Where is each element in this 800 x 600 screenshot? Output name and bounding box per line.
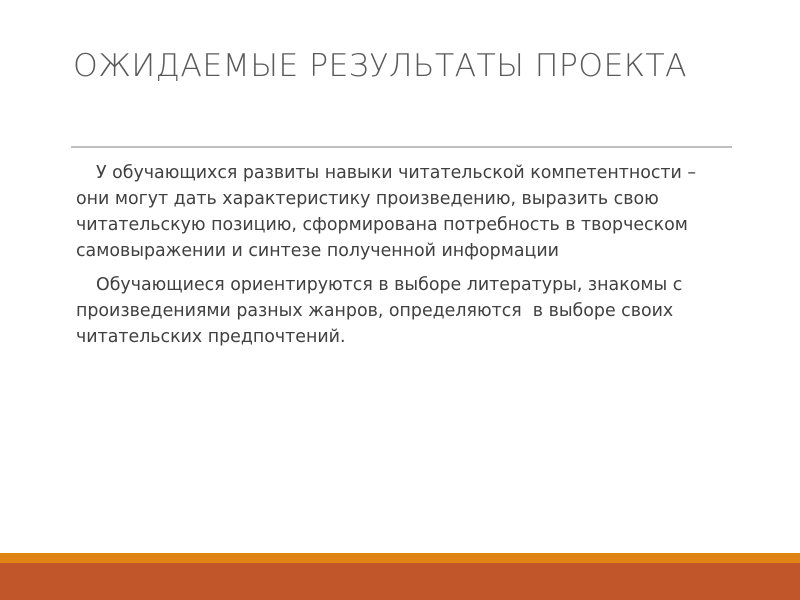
footer-accent-band [0,553,800,563]
title-divider [71,146,732,148]
presentation-slide: ОЖИДАЕМЫЕ РЕЗУЛЬТАТЫ ПРОЕКТА У обучающих… [0,0,800,600]
title-block: ОЖИДАЕМЫЕ РЕЗУЛЬТАТЫ ПРОЕКТА [73,47,733,85]
page-title: ОЖИДАЕМЫЕ РЕЗУЛЬТАТЫ ПРОЕКТА [73,47,733,85]
body-content: У обучающихся развиты навыки читательско… [76,160,728,350]
body-paragraph: У обучающихся развиты навыки читательско… [76,160,728,264]
footer-base-band [0,563,800,600]
body-paragraph: Обучающиеся ориентируются в выборе литер… [76,272,728,350]
